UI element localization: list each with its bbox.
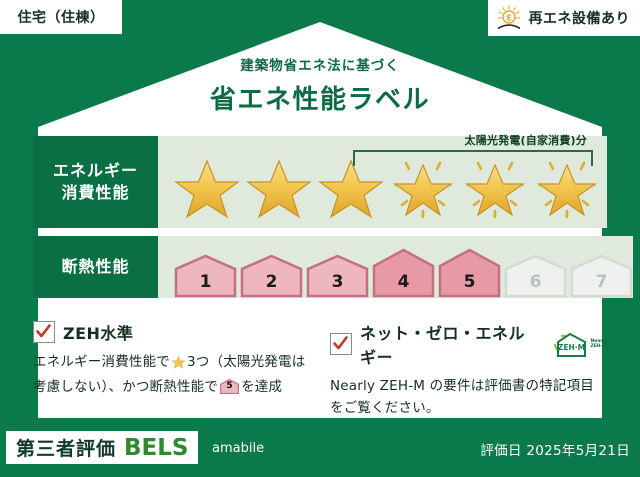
star-icon [316, 149, 386, 221]
insulation-level-value: 5 [438, 272, 501, 292]
bels-logo-box: 第三者評価 BELS [6, 431, 198, 464]
insulation-level-7: 7 [570, 254, 633, 298]
insulation-level-value: 6 [504, 272, 567, 292]
energy-row-body: 太陽光発電(自家消費)分 [158, 136, 607, 228]
insulation-level-value: 1 [174, 272, 237, 292]
footer-bar: 第三者評価 BELS amabile 評価日 2025年5月21日 [0, 425, 640, 477]
net-zero-energy-block: ネット・ゼロ・エネルギー ZEH·M Nearly ZEH-M Nearly Z… [330, 320, 607, 420]
energy-row-label: エネルギー 消費性能 [33, 136, 158, 228]
net-zero-description: Nearly ZEH-M の要件は評価書の特記項目をご覧ください。 [330, 376, 607, 420]
star-icon-solar [460, 149, 530, 221]
organization-name: amabile [212, 441, 264, 456]
sun-solar-icon: E [494, 4, 524, 32]
insulation-row-label-text: 断熱性能 [61, 256, 129, 278]
page-title: 建築物省エネ法に基づく 省エネ性能ラベル [0, 54, 640, 116]
insulation-level-5: 5 [438, 248, 501, 298]
insulation-level-1: 1 [174, 254, 237, 298]
zeh-title: ZEH水準 [63, 320, 133, 344]
energy-row-label-line2: 消費性能 [61, 182, 129, 204]
insulation-level-3: 3 [306, 254, 369, 298]
evaluation-date: 評価日 2025年5月21日 [480, 439, 630, 459]
insulation-level-value: 2 [240, 272, 303, 292]
insulation-level-2: 2 [240, 254, 303, 298]
star-icon [244, 149, 314, 221]
star-icon-solar [532, 149, 602, 221]
inline-star-icon [171, 357, 186, 373]
zeh-desc-part3: を達成 [241, 379, 282, 395]
insulation-row-label: 断熱性能 [33, 236, 158, 298]
energy-performance-row: エネルギー 消費性能 太陽光発電(自家消費)分 [33, 136, 607, 228]
zeh-desc-part1: エネルギー消費性能で [33, 354, 170, 370]
insulation-grade-scale: 1 2 3 4 5 [158, 236, 633, 298]
bels-label: BELS [124, 435, 188, 461]
insulation-level-value: 3 [306, 272, 369, 292]
zeh-standard-block: ZEH水準 エネルギー消費性能で3つ（太陽光発電は考慮しない）、かつ断熱性能で5… [33, 320, 310, 420]
zeh-m-sub-line2: ZEH-M [590, 344, 606, 349]
certification-checks: ZEH水準 エネルギー消費性能で3つ（太陽光発電は考慮しない）、かつ断熱性能で5… [33, 320, 607, 420]
zeh-m-logo-sub: Nearly ZEH-M [590, 339, 607, 349]
building-type-tag: 住宅（住棟） [0, 0, 122, 34]
net-zero-title: ネット・ゼロ・エネルギー [360, 320, 536, 368]
zeh-m-logo: ZEH·M Nearly ZEH-M [548, 331, 607, 358]
solar-annotation-label: 太陽光発電(自家消費)分 [465, 132, 587, 148]
star-icon [172, 149, 242, 221]
energy-label-root: 住宅（住棟） E 再エネ設備あり 建築物省エネ法に基づく [0, 0, 640, 477]
star-icon-solar [388, 149, 458, 221]
title-main: 省エネ性能ラベル [0, 79, 640, 116]
net-zero-check-header: ネット・ゼロ・エネルギー ZEH·M Nearly ZEH-M [330, 320, 607, 368]
inline-house-icon: 5 [220, 378, 239, 395]
inline-house-value: 5 [220, 379, 239, 394]
renewable-badge-label: 再エネ設備あり [529, 8, 631, 28]
third-party-label: 第三者評価 [16, 434, 116, 461]
svg-text:ZEH·M: ZEH·M [558, 343, 585, 352]
insulation-level-6: 6 [504, 254, 567, 298]
insulation-row-body: 1 2 3 4 5 [158, 236, 633, 298]
star-rating [158, 149, 602, 221]
insulation-level-value: 4 [372, 272, 435, 292]
insulation-level-value: 7 [570, 272, 633, 292]
renewable-energy-badge: E 再エネ設備あり [488, 0, 640, 36]
title-subtitle: 建築物省エネ法に基づく [0, 54, 640, 74]
zeh-description: エネルギー消費性能で3つ（太陽光発電は考慮しない）、かつ断熱性能で5を達成 [33, 352, 310, 399]
checkmark-icon [330, 333, 352, 355]
insulation-performance-row: 断熱性能 1 2 3 4 [33, 236, 607, 298]
zeh-check-header: ZEH水準 [33, 320, 310, 344]
checkmark-icon [33, 321, 55, 343]
energy-row-label-line1: エネルギー [53, 160, 138, 182]
insulation-level-4: 4 [372, 248, 435, 298]
svg-text:E: E [506, 13, 511, 22]
